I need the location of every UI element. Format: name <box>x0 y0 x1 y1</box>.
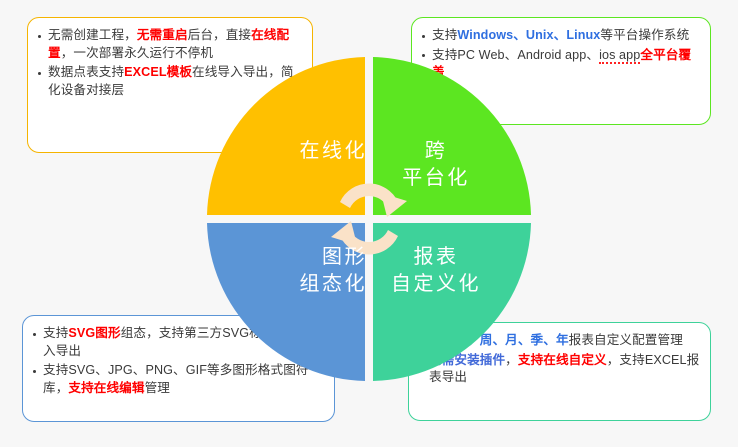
quadrant-wheel <box>203 53 535 385</box>
infographic-canvas: 无需创建工程，无需重启后台，直接在线配置，一次部署永久运行不停机数据点表支持EX… <box>0 0 738 447</box>
text-segment: ios app <box>599 48 640 64</box>
quadrant-report[interactable] <box>373 223 531 381</box>
text-segment: 管理 <box>145 381 170 395</box>
text-segment: 支持 <box>43 326 68 340</box>
text-segment: 支持 <box>432 28 457 42</box>
text-segment: ，一次部署永久运行不停机 <box>61 46 213 60</box>
text-segment: 无需创建工程， <box>48 28 137 42</box>
bullet-item: 支持Windows、Unix、Linux等平台操作系统 <box>420 27 700 45</box>
quadrant-graphics[interactable] <box>207 223 365 381</box>
text-segment: 无需重启 <box>137 28 188 42</box>
text-segment: Windows、Unix、Linux <box>457 28 600 42</box>
quadrant-cross-platform[interactable] <box>373 57 531 215</box>
text-segment: 后台，直接 <box>188 28 251 42</box>
text-segment: EXCEL模板 <box>124 65 192 79</box>
text-segment: 数据点表支持 <box>48 65 124 79</box>
text-segment: 报表自定义配置管理 <box>569 333 683 347</box>
text-segment: SVG图形 <box>68 326 120 340</box>
text-segment: 等平台操作系统 <box>600 28 689 42</box>
text-segment: 支持在线编辑 <box>68 381 144 395</box>
quadrant-online[interactable] <box>207 57 365 215</box>
